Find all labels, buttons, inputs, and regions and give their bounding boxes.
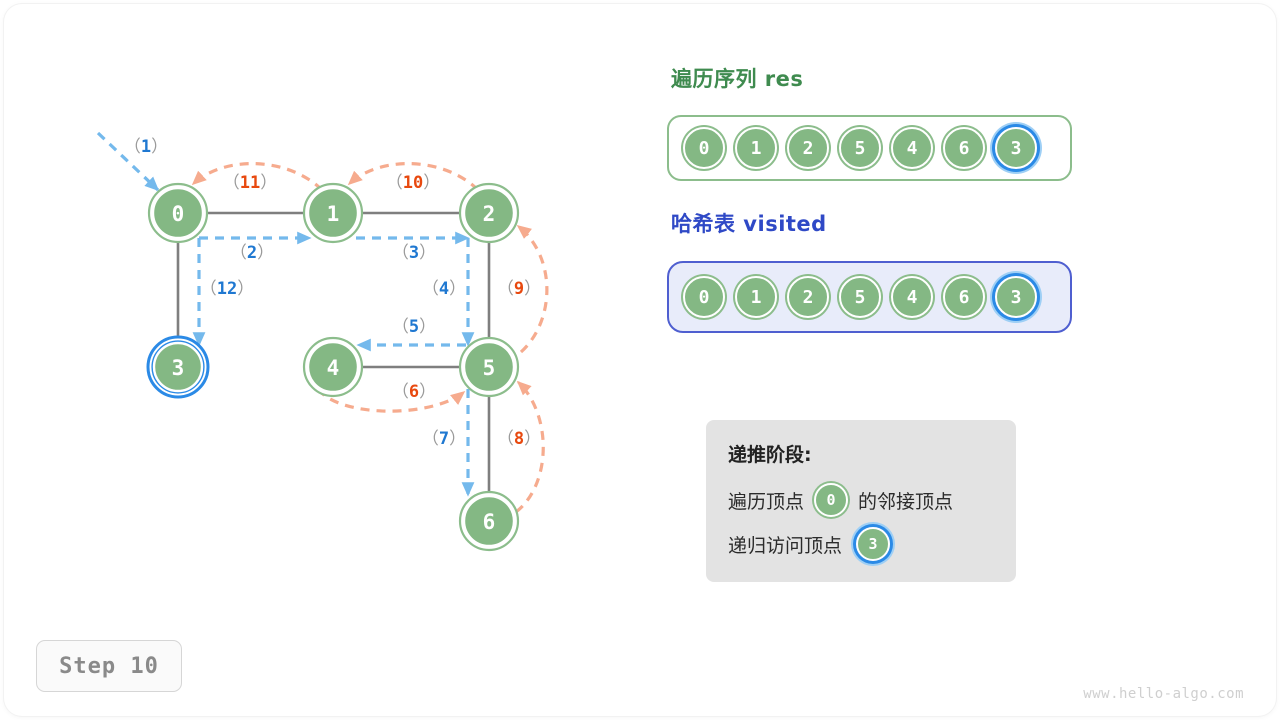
visited-item-3[interactable]: 5 (839, 276, 881, 318)
step-label-11-num: 11 (240, 173, 260, 193)
graph-node-2-label: 2 (483, 202, 496, 226)
step-label-6-num: 6 (409, 382, 419, 402)
res-item-6-highlighted[interactable]: 3 (995, 127, 1037, 169)
graph-diagram: 0 1 2 3 4 (0, 0, 1280, 720)
graph-node-1-label: 1 (327, 202, 340, 226)
step-label-1: （1） (124, 137, 168, 157)
phase-target-vertex-chip: 3 (856, 527, 890, 561)
graph-node-2[interactable]: 2 (460, 184, 518, 242)
step-label-5: （5） (392, 317, 436, 337)
graph-node-4-label: 4 (327, 356, 340, 380)
visited-item-4[interactable]: 4 (891, 276, 933, 318)
graph-node-3[interactable]: 3 (148, 337, 208, 397)
visited-item-2[interactable]: 2 (787, 276, 829, 318)
step-label-1-num: 1 (141, 137, 151, 157)
graph-node-5-label: 5 (483, 356, 496, 380)
res-item-2[interactable]: 2 (787, 127, 829, 169)
step-label-7-num: 7 (439, 429, 449, 449)
res-item-0[interactable]: 0 (683, 127, 725, 169)
step-label-12-num: 12 (217, 279, 237, 299)
visited-panel-title: 哈希表 visited (671, 208, 827, 238)
res-item-4[interactable]: 4 (891, 127, 933, 169)
step-label-10-num: 10 (403, 173, 423, 193)
graph-node-1[interactable]: 1 (304, 184, 362, 242)
watermark: www.hello-algo.com (1083, 686, 1244, 702)
res-list: 0 1 2 5 4 6 3 (667, 115, 1072, 181)
visited-item-5[interactable]: 6 (943, 276, 985, 318)
step-label-7: （7） (422, 429, 466, 449)
step-label-10: （10） (386, 173, 440, 193)
step-label-2-num: 2 (247, 243, 257, 263)
phase-line-recurse-prefix: 递归访问顶点 (728, 531, 842, 558)
visited-item-6-highlighted[interactable]: 3 (995, 276, 1037, 318)
step-badge: Step 10 (36, 640, 182, 692)
visited-item-1[interactable]: 1 (735, 276, 777, 318)
phase-line-traverse: 遍历顶点 0 的邻接顶点 (728, 483, 994, 517)
illustration-canvas: 0 1 2 3 4 (0, 0, 1280, 720)
visited-list: 0 1 2 5 4 6 3 (667, 261, 1072, 333)
phase-line-traverse-prefix: 遍历顶点 (728, 487, 804, 514)
step-label-12: （12） (200, 279, 254, 299)
res-item-5[interactable]: 6 (943, 127, 985, 169)
step-label-4-num: 4 (439, 279, 449, 299)
step-label-4: （4） (422, 279, 466, 299)
graph-node-5[interactable]: 5 (460, 338, 518, 396)
phase-heading: 递推阶段: (728, 440, 994, 467)
step-label-2: （2） (230, 243, 274, 263)
graph-node-0-label: 0 (172, 202, 185, 226)
phase-info-box: 递推阶段: 遍历顶点 0 的邻接顶点 递归访问顶点 3 (706, 420, 1016, 582)
step-label-9-num: 9 (514, 279, 524, 299)
step-label-9: （9） (497, 279, 541, 299)
res-item-1[interactable]: 1 (735, 127, 777, 169)
phase-line-recurse: 递归访问顶点 3 (728, 527, 994, 561)
res-item-3[interactable]: 5 (839, 127, 881, 169)
graph-node-6-label: 6 (483, 510, 496, 534)
graph-node-6[interactable]: 6 (460, 492, 518, 550)
graph-node-3-label: 3 (172, 356, 185, 380)
res-panel-title: 遍历序列 res (671, 63, 803, 93)
step-label-8-num: 8 (514, 429, 524, 449)
phase-line-traverse-suffix: 的邻接顶点 (858, 487, 953, 514)
graph-node-0[interactable]: 0 (149, 184, 207, 242)
step-label-11: （11） (223, 173, 277, 193)
phase-current-vertex-chip: 0 (814, 483, 848, 517)
graph-node-4[interactable]: 4 (304, 338, 362, 396)
step-label-8: （8） (497, 429, 541, 449)
step-label-3: （3） (392, 243, 436, 263)
visited-item-0[interactable]: 0 (683, 276, 725, 318)
step-label-6: （6） (392, 382, 436, 402)
step-label-5-num: 5 (409, 317, 419, 337)
step-label-3-num: 3 (409, 243, 419, 263)
